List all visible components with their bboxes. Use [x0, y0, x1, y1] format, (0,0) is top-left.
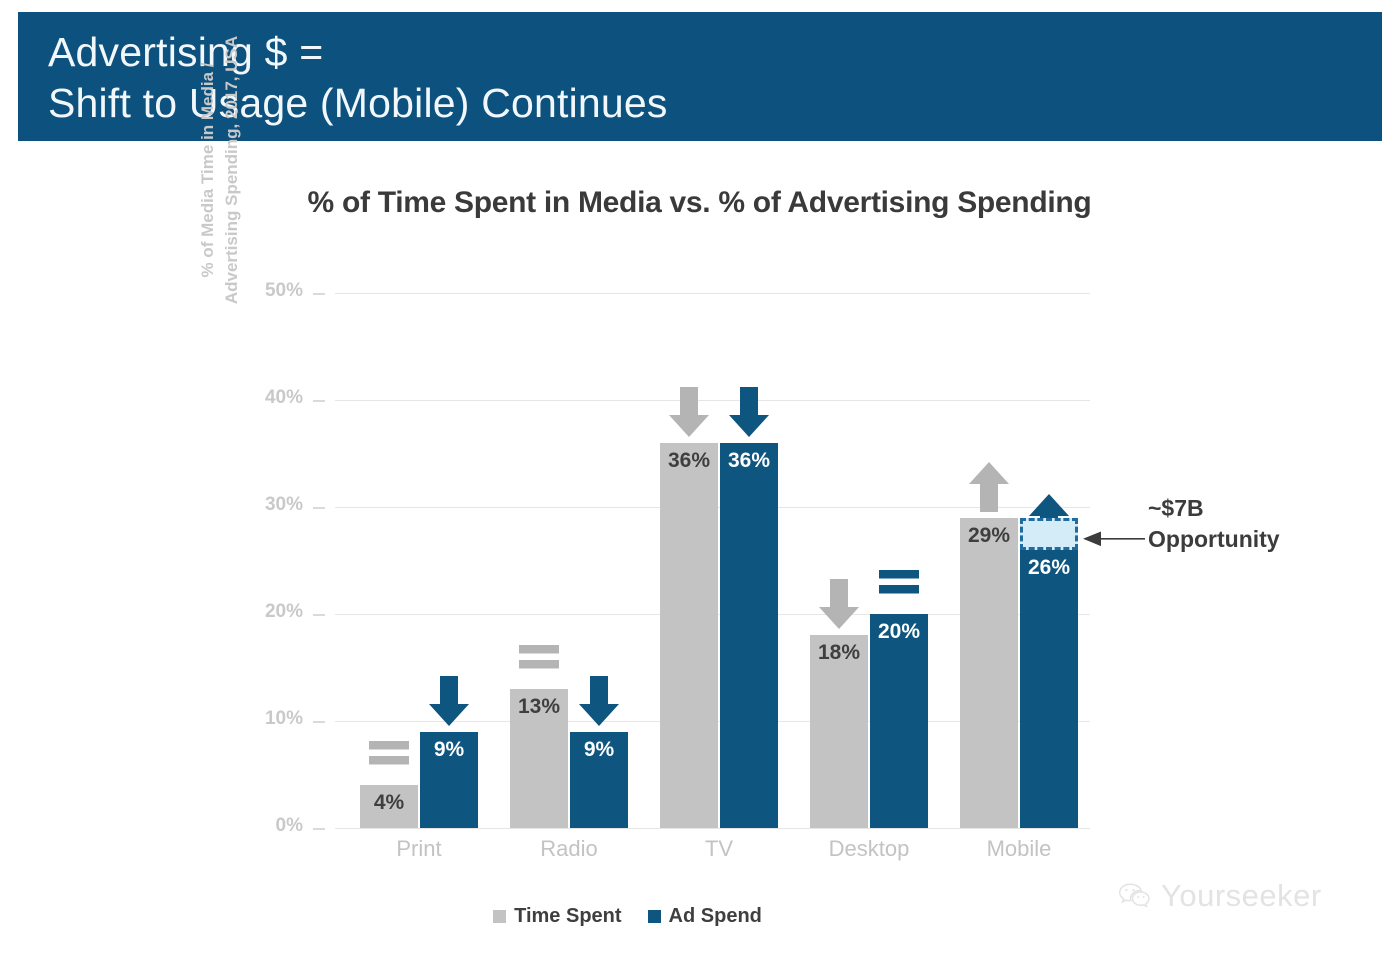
x-axis-label-desktop: Desktop [789, 836, 949, 862]
bar-value-label: 36% [720, 449, 778, 473]
bar-tv-time-spent[interactable]: 36% [660, 443, 718, 828]
banner-title: Advertising $ = Shift to Usage (Mobile) … [48, 27, 668, 129]
bar-desktop-ad-spend[interactable]: 20% [870, 614, 928, 828]
gridline [335, 828, 1090, 829]
legend-swatch [648, 910, 661, 923]
y-axis-tick-label: 40% [243, 387, 303, 409]
arrow-down-icon [726, 385, 772, 439]
bar-value-label: 9% [420, 738, 478, 762]
arrow-up-icon [966, 460, 1012, 514]
opportunity-box[interactable] [1020, 518, 1078, 550]
gridline [335, 400, 1090, 401]
bar-print-ad-spend[interactable]: 9% [420, 732, 478, 828]
x-axis-label-tv: TV [639, 836, 799, 862]
y-axis-tick-mark [313, 293, 325, 295]
x-axis-label-mobile: Mobile [939, 836, 1099, 862]
watermark: Yourseeker [1118, 878, 1322, 914]
chart-title-text: % of Time Spent in Media vs. % of Advert… [308, 186, 1092, 220]
bar-radio-time-spent[interactable]: 13% [510, 689, 568, 828]
legend-label: Ad Spend [669, 905, 762, 928]
equals-icon [366, 727, 412, 781]
bar-mobile-ad-spend[interactable]: 26% [1020, 550, 1078, 828]
watermark-text: Yourseeker [1161, 878, 1322, 914]
y-axis-tick-label: 50% [243, 280, 303, 302]
y-axis-tick-label: 30% [243, 494, 303, 516]
bar-value-label: 29% [960, 524, 1018, 548]
y-axis-tick-mark [313, 400, 325, 402]
bar-value-label: 36% [660, 449, 718, 473]
opportunity-arrow-icon [1083, 531, 1145, 547]
bar-value-label: 18% [810, 641, 868, 665]
bar-tv-ad-spend[interactable]: 36% [720, 443, 778, 828]
bar-value-label: 4% [360, 791, 418, 815]
bar-value-label: 20% [870, 620, 928, 644]
slide-canvas: Advertising $ = Shift to Usage (Mobile) … [0, 0, 1399, 960]
arrow-down-icon [666, 385, 712, 439]
equals-icon [876, 556, 922, 610]
opportunity-annotation: ~$7B Opportunity [1148, 493, 1280, 555]
x-axis-label-print: Print [339, 836, 499, 862]
bar-value-label: 26% [1020, 556, 1078, 580]
y-axis-tick-label: 0% [243, 815, 303, 837]
bar-print-time-spent[interactable]: 4% [360, 785, 418, 828]
legend-item[interactable]: Time Spent [493, 905, 621, 928]
arrow-down-icon [816, 577, 862, 631]
plot-area: 4%9%13%9%36%36%18%20%29%26% [335, 293, 1090, 828]
bar-value-label: 13% [510, 695, 568, 719]
y-axis-tick-mark [313, 721, 325, 723]
bar-radio-ad-spend[interactable]: 9% [570, 732, 628, 828]
legend-swatch [493, 910, 506, 923]
arrow-down-icon [576, 674, 622, 728]
legend-label: Time Spent [514, 905, 621, 928]
y-axis-label: % of Media Time in Media / Advertising S… [196, 10, 244, 330]
bar-value-label: 9% [570, 738, 628, 762]
y-axis-tick-label: 20% [243, 601, 303, 623]
y-axis-tick-mark [313, 507, 325, 509]
bar-mobile-time-spent[interactable]: 29% [960, 518, 1018, 828]
legend-item[interactable]: Ad Spend [648, 905, 762, 928]
y-axis-tick-mark [313, 614, 325, 616]
arrow-down-icon [426, 674, 472, 728]
gridline [335, 293, 1090, 294]
bar-desktop-time-spent[interactable]: 18% [810, 635, 868, 828]
y-axis-tick-label: 10% [243, 708, 303, 730]
equals-icon [516, 631, 562, 685]
x-axis-label-radio: Radio [489, 836, 649, 862]
wechat-icon [1118, 882, 1152, 910]
y-axis-tick-mark [313, 828, 325, 830]
